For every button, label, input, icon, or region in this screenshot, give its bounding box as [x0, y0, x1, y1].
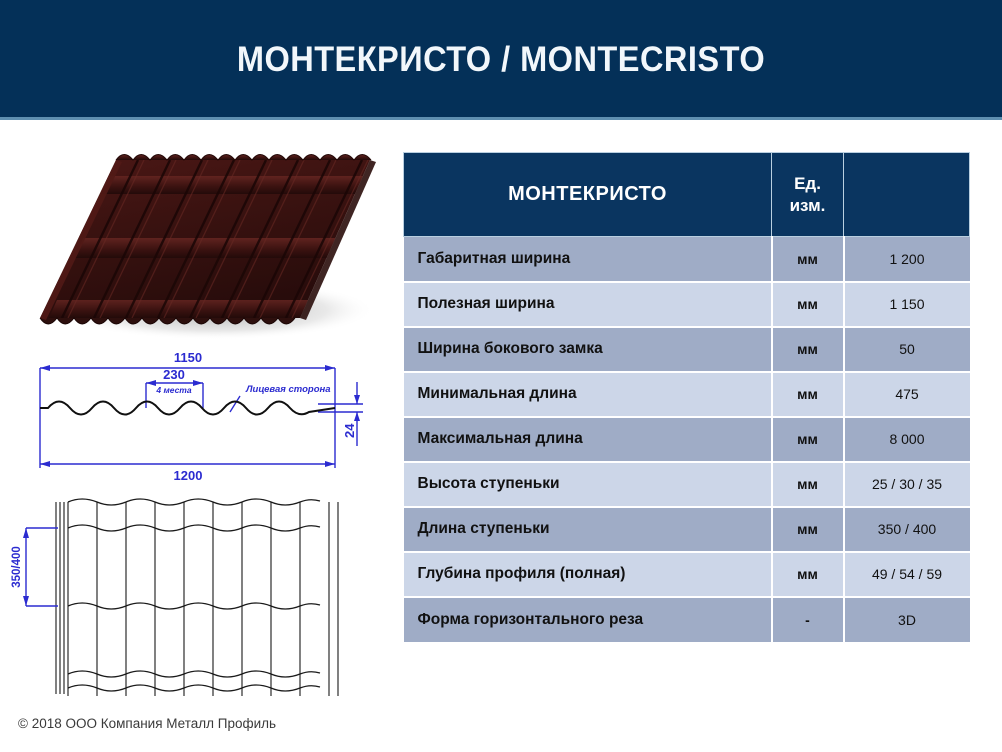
section-label-useful-width: 1150 [174, 350, 202, 365]
plan-label-step-length: 350/400 [11, 546, 23, 588]
section-label-wave-count: 4 места [155, 385, 191, 395]
specification-table: МОНТЕКРИСТО Ед. изм. Габаритная ширинамм… [403, 152, 970, 642]
product-image-svg [10, 132, 400, 347]
table-header-unit-line1: Ед. [794, 174, 821, 193]
table-row: Длина ступенькимм350 / 400 [404, 507, 970, 552]
table-cell-parameter-name: Минимальная длина [404, 372, 772, 417]
table-cell-value: 1 150 [844, 282, 970, 327]
table-row: Глубина профиля (полная)мм49 / 54 / 59 [404, 552, 970, 597]
table-cell-unit: мм [772, 327, 844, 372]
table-cell-value: 8 000 [844, 417, 970, 462]
section-dimension-lines [40, 365, 363, 468]
specification-table-header: МОНТЕКРИСТО Ед. изм. [404, 153, 970, 237]
table-cell-unit: мм [772, 552, 844, 597]
table-cell-value: 25 / 30 / 35 [844, 462, 970, 507]
table-cell-parameter-name: Глубина профиля (полная) [404, 552, 772, 597]
table-cell-unit: мм [772, 507, 844, 552]
plan-rib-lines [56, 502, 338, 696]
table-cell-value: 50 [844, 327, 970, 372]
table-cell-parameter-name: Габаритная ширина [404, 237, 772, 282]
table-cell-unit: - [772, 597, 844, 642]
plan-drawing-svg: 350/400 [0, 484, 392, 702]
table-header-name: МОНТЕКРИСТО [404, 153, 772, 237]
plan-dimension-lines [23, 528, 58, 606]
section-label-face-side: Лицевая сторона [245, 384, 331, 395]
table-cell-value: 350 / 400 [844, 507, 970, 552]
specification-table-body: Габаритная ширинамм1 200Полезная ширинам… [404, 237, 970, 642]
product-top-crests [116, 155, 371, 161]
table-cell-unit: мм [772, 372, 844, 417]
table-row: Ширина бокового замкамм50 [404, 327, 970, 372]
table-header-value [844, 153, 970, 237]
table-cell-value: 49 / 54 / 59 [844, 552, 970, 597]
table-header-row: МОНТЕКРИСТО Ед. изм. [404, 153, 970, 237]
product-image [10, 132, 400, 347]
table-row: Минимальная длинамм475 [404, 372, 970, 417]
table-cell-unit: мм [772, 237, 844, 282]
table-cell-parameter-name: Форма горизонтального реза [404, 597, 772, 642]
section-label-wave-pitch: 230 [163, 367, 185, 382]
table-cell-value: 475 [844, 372, 970, 417]
table-cell-parameter-name: Полезная ширина [404, 282, 772, 327]
table-cell-value: 3D [844, 597, 970, 642]
table-cell-value: 1 200 [844, 237, 970, 282]
table-row: Форма горизонтального реза-3D [404, 597, 970, 642]
page-title: МОНТЕКРИСТО / MONTECRISTO [35, 40, 967, 80]
section-profile-line [40, 402, 335, 415]
section-technical-drawing: 1150 230 4 места Лицевая сторона 24 1200 [18, 346, 390, 486]
section-drawing-svg: 1150 230 4 места Лицевая сторона 24 1200 [18, 346, 390, 486]
table-cell-parameter-name: Максимальная длина [404, 417, 772, 462]
plan-technical-drawing: 350/400 [0, 484, 392, 702]
table-row: Высота ступенькимм25 / 30 / 35 [404, 462, 970, 507]
table-header-unit: Ед. изм. [772, 153, 844, 237]
section-label-profile-height: 24 [342, 423, 357, 438]
page-header-bar: МОНТЕКРИСТО / MONTECRISTO [0, 0, 1002, 120]
table-row: Максимальная длинамм8 000 [404, 417, 970, 462]
table-cell-parameter-name: Ширина бокового замка [404, 327, 772, 372]
table-header-unit-line2: изм. [790, 196, 826, 215]
table-cell-parameter-name: Длина ступеньки [404, 507, 772, 552]
section-label-overall-width: 1200 [174, 468, 203, 483]
table-cell-unit: мм [772, 417, 844, 462]
table-row: Габаритная ширинамм1 200 [404, 237, 970, 282]
table-cell-unit: мм [772, 462, 844, 507]
plan-step-curves [68, 499, 320, 691]
table-row: Полезная ширинамм1 150 [404, 282, 970, 327]
footer-copyright: © 2018 ООО Компания Металл Профиль [18, 716, 276, 731]
table-cell-parameter-name: Высота ступеньки [404, 462, 772, 507]
table-cell-unit: мм [772, 282, 844, 327]
